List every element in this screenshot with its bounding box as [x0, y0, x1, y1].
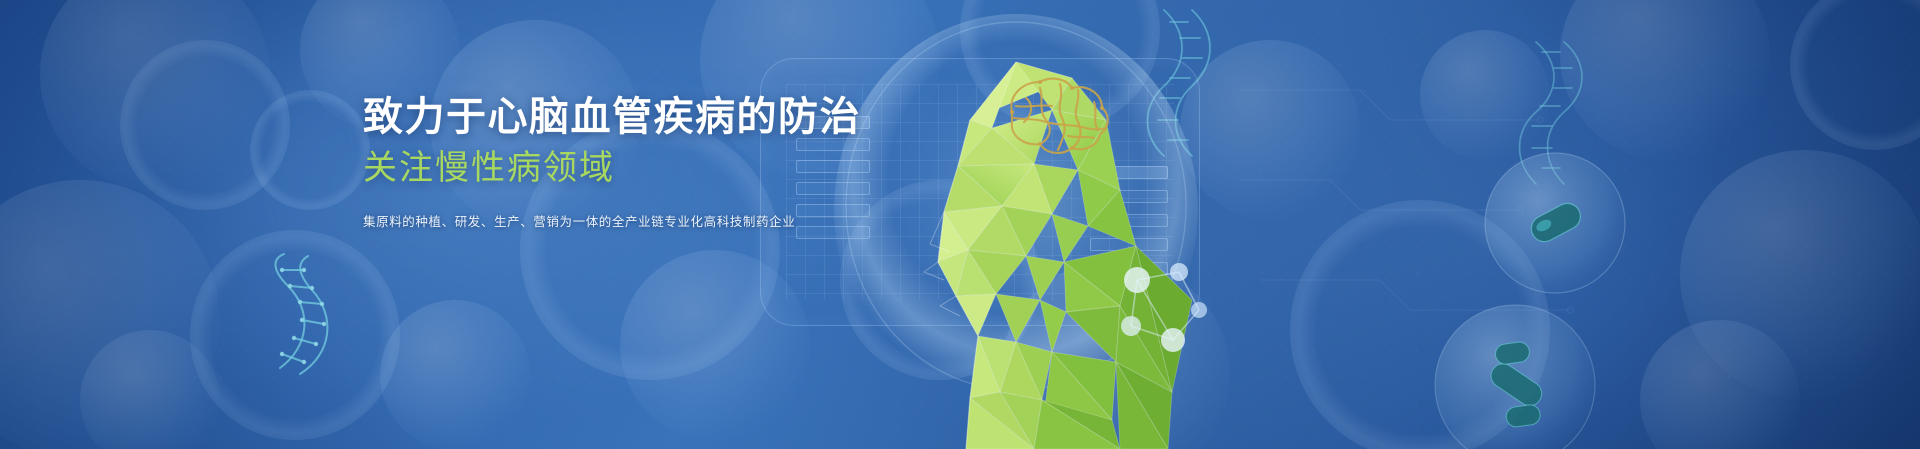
- hero-banner: 致力于心脑血管疾病的防治 关注慢性病领域 集原料的种植、研发、生产、营销为一体的…: [0, 0, 1920, 449]
- banner-tagline: 集原料的种植、研发、生产、营销为一体的全产业链专业化高科技制药企业: [363, 211, 1123, 230]
- banner-headline: 致力于心脑血管疾病的防治: [363, 94, 1123, 140]
- banner-subline: 关注慢性病领域: [363, 148, 1123, 189]
- headline-prefix: 致力于: [363, 95, 488, 139]
- banner-copy-block: 致力于心脑血管疾病的防治 关注慢性病领域 集原料的种植、研发、生产、营销为一体的…: [363, 94, 1123, 230]
- headline-emphasis: 心脑血管疾病: [488, 95, 737, 139]
- headline-suffix: 的防治: [737, 95, 862, 139]
